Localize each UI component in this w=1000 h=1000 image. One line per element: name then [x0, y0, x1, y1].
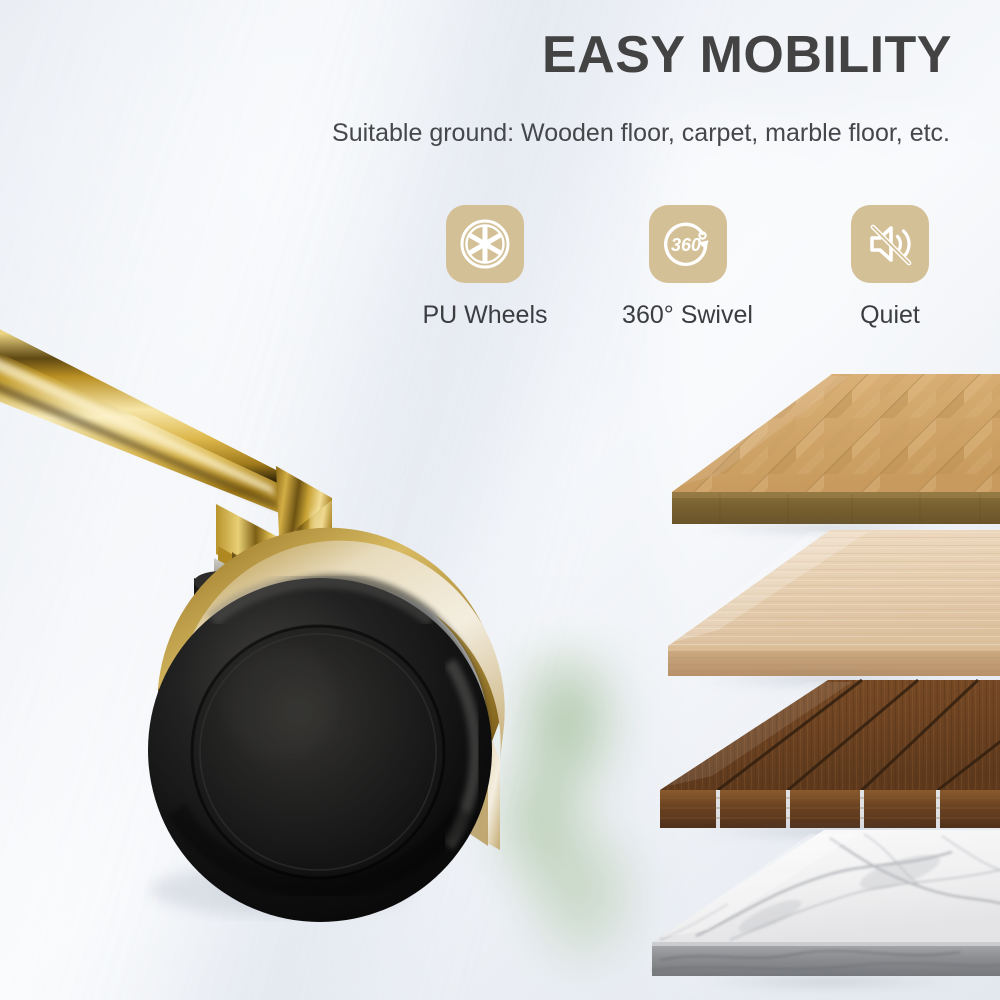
feature-item-360-swivel: 360 360° Swivel [608, 205, 768, 330]
floor-sample-stack [600, 362, 1000, 998]
feature-label: Quiet [860, 301, 920, 330]
feature-label: 360° Swivel [622, 301, 753, 330]
feature-item-quiet: Quiet [810, 205, 970, 330]
speaker-muted-icon [864, 218, 916, 270]
floor-sample-dark-walnut-planks [600, 672, 1000, 842]
feature-icon-tile [446, 205, 524, 283]
360-rotation-icon: 360 [661, 217, 715, 271]
floor-sample-light-oak-herringbone [600, 362, 1000, 532]
page-subtitle: Suitable ground: Wooden floor, carpet, m… [332, 118, 950, 148]
feature-icon-tile: 360 [649, 205, 727, 283]
gold-chair-leg-with-caster-wheel [0, 290, 580, 950]
page-title: EASY MOBILITY [542, 28, 952, 83]
svg-text:360: 360 [670, 235, 700, 255]
floor-sample-white-carrara-marble [600, 824, 1000, 998]
floor-sample-pale-birch-plank [600, 520, 1000, 688]
wheel-icon [459, 218, 511, 270]
product-feature-panel: EASY MOBILITY Suitable ground: Wooden fl… [0, 0, 1000, 1000]
feature-icon-tile [851, 205, 929, 283]
